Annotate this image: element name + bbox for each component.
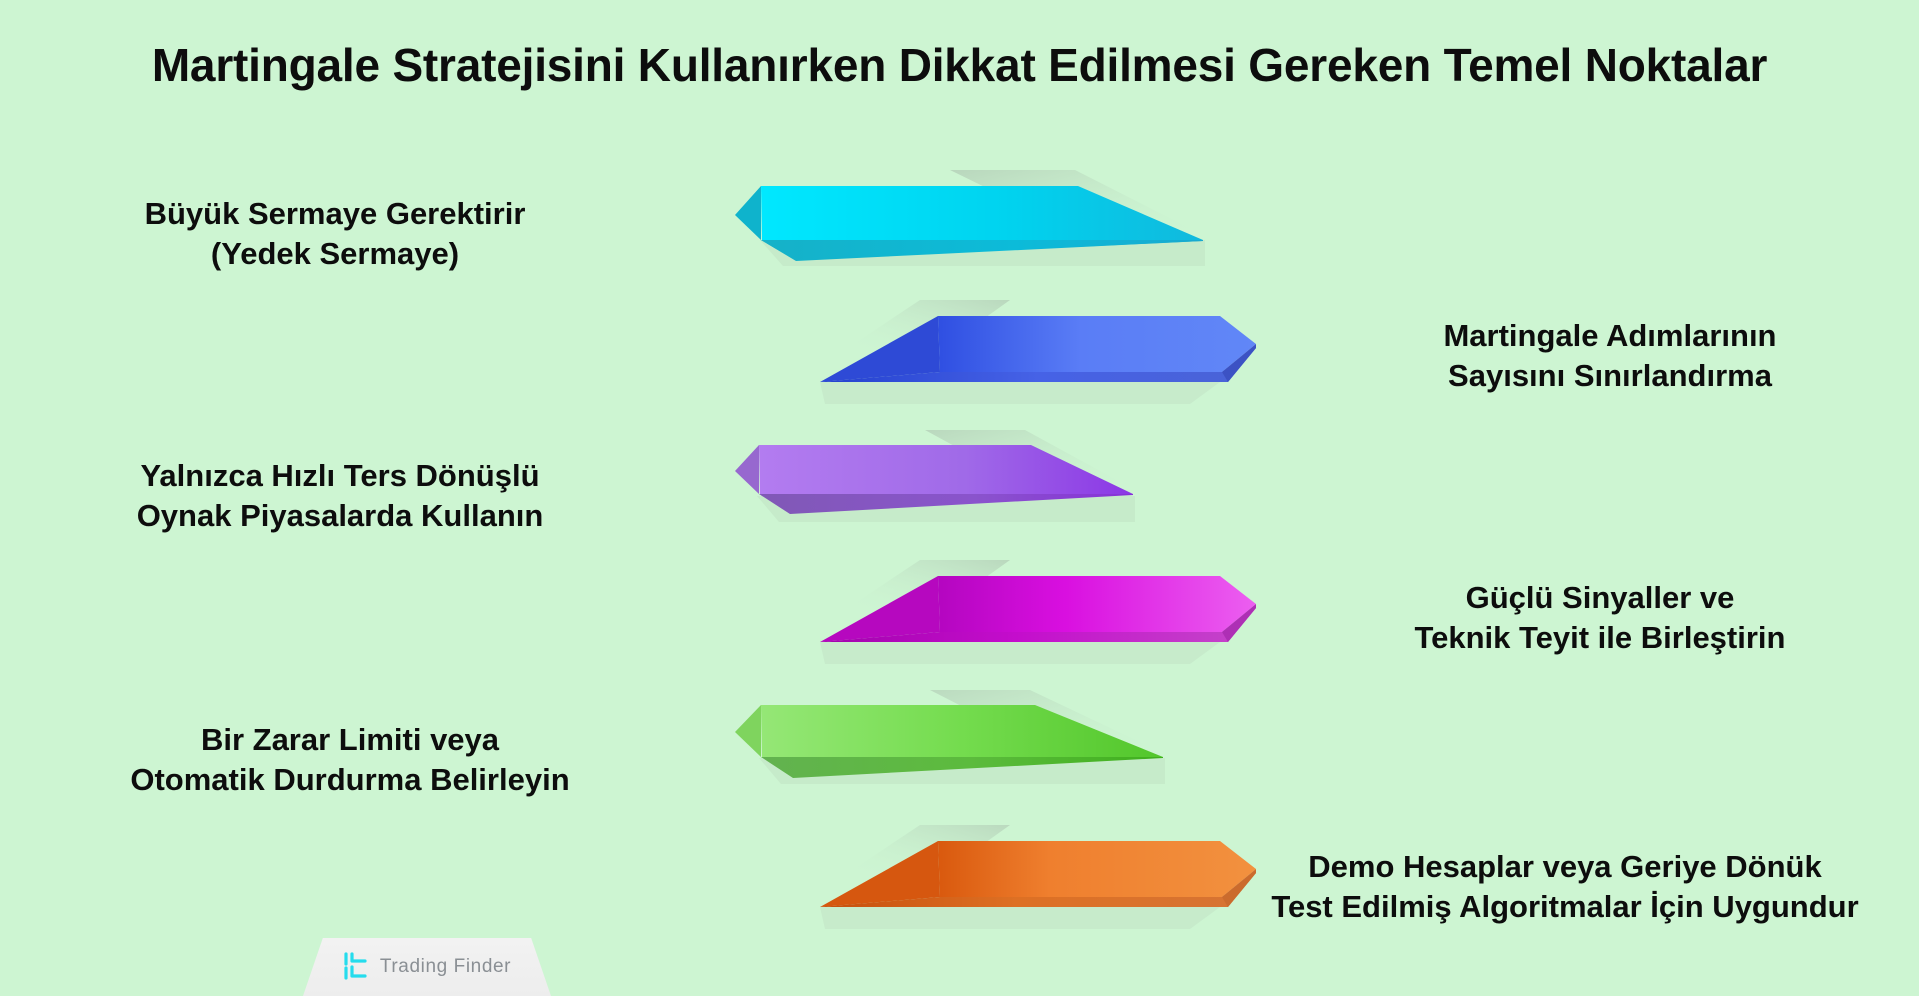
watermark-brand: Trading Finder bbox=[380, 956, 511, 978]
arrow-band-6 bbox=[820, 825, 1260, 917]
arrow-band-3 bbox=[735, 430, 1135, 522]
item-label-5: Bir Zarar Limiti veya Otomatik Durdurma … bbox=[70, 720, 630, 799]
arrow-shape-magenta bbox=[820, 560, 1260, 670]
arrow-band-4 bbox=[820, 560, 1260, 652]
arrow-band-1 bbox=[735, 170, 1205, 262]
trading-finder-logo-icon bbox=[343, 952, 371, 982]
arrow-shape-green bbox=[735, 690, 1165, 800]
arrow-band-2 bbox=[820, 300, 1260, 392]
arrow-band-5 bbox=[735, 690, 1165, 782]
watermark-badge: Trading Finder bbox=[303, 938, 551, 996]
item-label-4: Güçlü Sinyaller ve Teknik Teyit ile Birl… bbox=[1300, 578, 1900, 657]
infographic-row-6: Demo Hesaplar veya Geriye Dönük Test Edi… bbox=[0, 825, 1919, 985]
arrow-shape-cyan bbox=[735, 170, 1205, 280]
arrow-shape-orange bbox=[820, 825, 1260, 935]
item-label-3: Yalnızca Hızlı Ters Dönüşlü Oynak Piyasa… bbox=[60, 456, 620, 535]
item-label-2: Martingale Adımlarının Sayısını Sınırlan… bbox=[1310, 316, 1910, 395]
arrow-shape-purple bbox=[735, 430, 1135, 540]
arrow-shape-blue bbox=[820, 300, 1260, 410]
infographic-canvas: Martingale Stratejisini Kullanırken Dikk… bbox=[0, 0, 1919, 996]
item-label-6: Demo Hesaplar veya Geriye Dönük Test Edi… bbox=[1215, 847, 1915, 926]
page-title: Martingale Stratejisini Kullanırken Dikk… bbox=[0, 38, 1919, 92]
item-label-1: Büyük Sermaye Gerektirir (Yedek Sermaye) bbox=[70, 194, 600, 273]
